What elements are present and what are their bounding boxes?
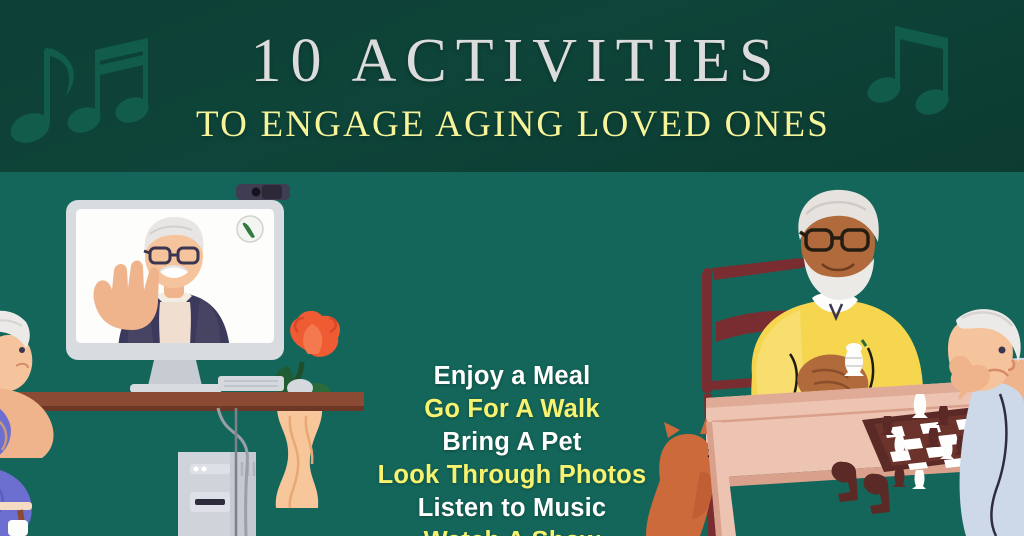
slipper — [8, 520, 28, 536]
keyboard — [218, 376, 284, 391]
page-subtitle: TO ENGAGE AGING LOVED ONES — [194, 106, 830, 143]
list-item[interactable]: Look Through Photos — [378, 459, 647, 492]
header-title-block: 10 ACTIVITIES TO ENGAGE AGING LOVED ONES — [0, 0, 1024, 172]
monitor-base — [130, 384, 222, 393]
list-item[interactable]: Listen to Music — [418, 492, 607, 525]
list-item[interactable]: Go For A Walk — [424, 393, 599, 426]
desk-shadow — [0, 406, 364, 411]
list-item[interactable]: Bring A Pet — [442, 426, 581, 459]
woman-eye — [19, 347, 25, 353]
webcam-lens — [252, 188, 261, 197]
monitor-neck — [148, 360, 202, 386]
wooden-desk — [0, 392, 364, 406]
infographic-poster: 10 ACTIVITIES TO ENGAGE AGING LOVED ONES — [0, 0, 1024, 536]
list-item[interactable]: Watch A Show — [424, 525, 601, 536]
page-title: 10 ACTIVITIES — [241, 30, 782, 92]
call-button-icon — [237, 216, 263, 242]
chair-seat — [0, 502, 32, 510]
woman-eye — [999, 347, 1006, 354]
list-item[interactable]: Enjoy a Meal — [434, 360, 591, 393]
poster-body: Enjoy a Meal Go For A Walk Bring A Pet L… — [0, 172, 1024, 536]
poster-header: 10 ACTIVITIES TO ENGAGE AGING LOVED ONES — [0, 0, 1024, 172]
shirt — [159, 302, 191, 350]
